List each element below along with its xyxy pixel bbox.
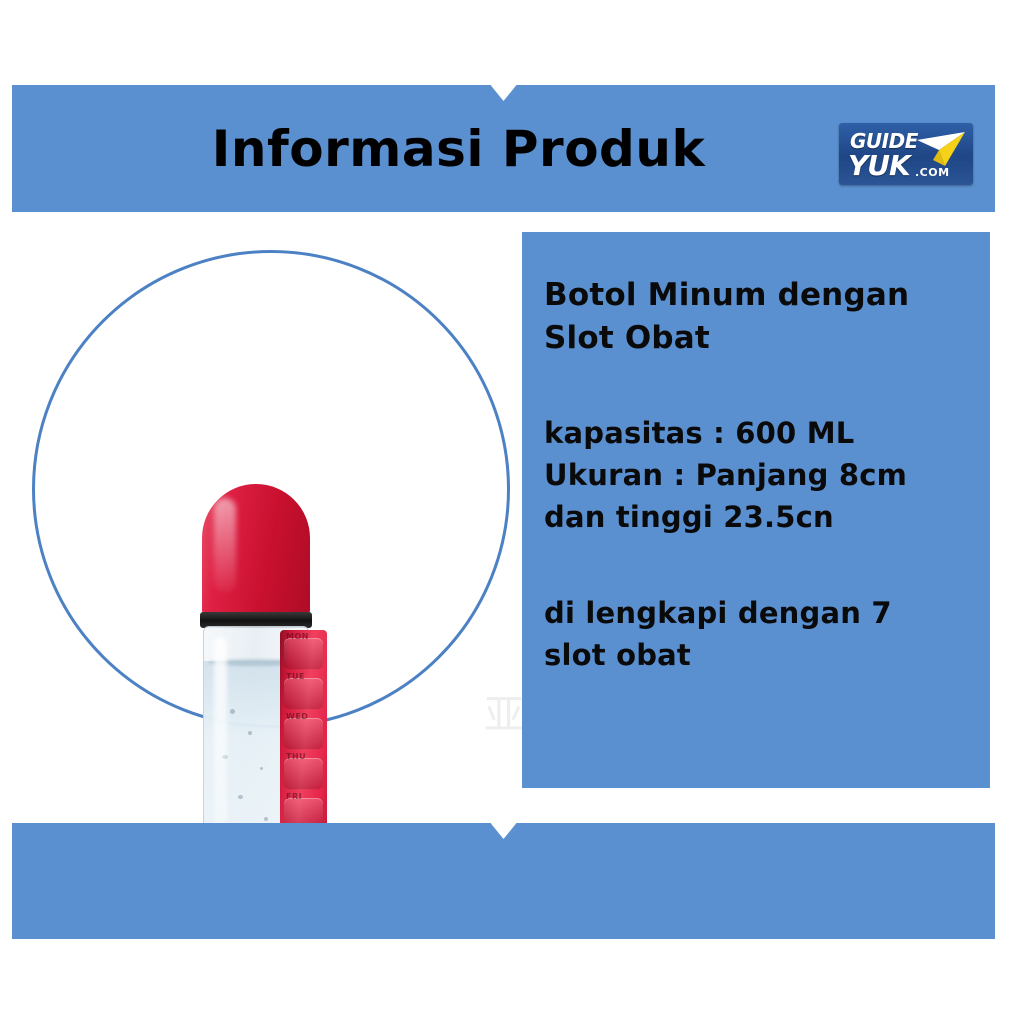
logo-text-yuk: YUK	[848, 149, 910, 182]
water-bubble	[264, 817, 268, 821]
pill-slot	[284, 718, 323, 748]
product-spec-text: kapasitas : 600 ML Ukuran : Panjang 8cm …	[544, 412, 960, 538]
pill-slot-label: THU	[286, 752, 306, 761]
footer-banner	[12, 823, 995, 939]
arrow-logo-icon	[915, 130, 967, 172]
bottle-cap	[202, 484, 310, 616]
product-info-panel: Botol Minum dengan Slot Obat kapasitas :…	[522, 232, 990, 788]
water-bubble	[230, 709, 235, 714]
pill-slot	[284, 638, 323, 668]
footer-notch-icon	[491, 823, 517, 839]
product-feature-text: di lengkapi dengan 7 slot obat	[544, 592, 960, 676]
water-bubble	[260, 767, 263, 770]
product-name-text: Botol Minum dengan Slot Obat	[544, 274, 960, 360]
guideyuk-logo[interactable]: GUIDE YUK .COM	[839, 123, 973, 185]
product-info-graphic: Informasi Produk GUIDE YUK .COM 亚	[0, 0, 1024, 1024]
pill-slot	[284, 758, 323, 788]
product-image-area: 亚	[14, 232, 510, 788]
pill-slot-label: WED	[286, 712, 308, 721]
water-bubble	[238, 795, 243, 799]
pill-slot-label: FRI	[286, 792, 302, 801]
bottle-cap-gloss	[214, 498, 236, 592]
pill-slot	[284, 678, 323, 708]
pill-slot-label: TUE	[286, 672, 305, 681]
pill-slot-label: MON	[286, 632, 309, 641]
water-bubble	[248, 731, 252, 735]
